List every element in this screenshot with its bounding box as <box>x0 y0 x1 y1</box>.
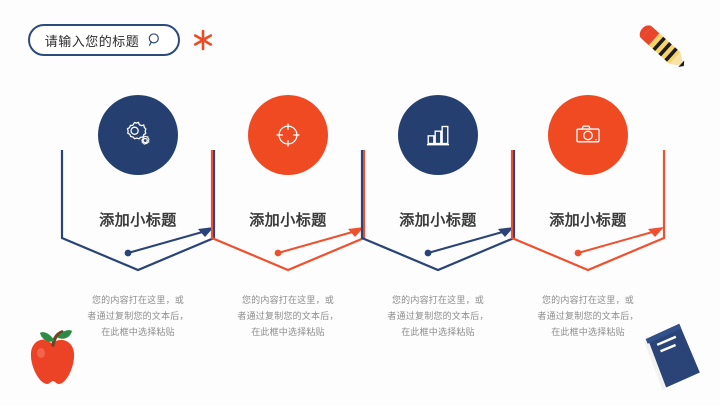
card-3-body: 您的内容打在这里，或 者通过复制您的文本后， 在此框中选择粘贴 <box>353 292 523 340</box>
body-text-row: 您的内容打在这里，或 者通过复制您的文本后， 在此框中选择粘贴 您的内容打在这里… <box>0 292 720 352</box>
card-1-circle[interactable] <box>98 95 178 175</box>
camera-icon <box>571 118 605 152</box>
card-1-title: 添加小标题 <box>59 209 217 230</box>
banner-arrow <box>575 227 664 256</box>
card-4-body: 您的内容打在这里，或 者通过复制您的文本后， 在此框中选择粘贴 <box>503 292 673 340</box>
title-placeholder-text: 请输入您的标题 <box>45 31 140 50</box>
pencil-icon <box>634 20 698 80</box>
card-3-circle[interactable] <box>398 95 478 175</box>
bar-chart-icon <box>421 118 455 152</box>
body-line: 您的内容打在这里，或 <box>353 292 523 308</box>
body-line: 者通过复制您的文本后， <box>353 308 523 324</box>
card-2-title: 添加小标题 <box>209 209 367 230</box>
title-input-pill[interactable]: 请输入您的标题 <box>28 24 180 56</box>
card-4[interactable]: 添加小标题 <box>498 95 678 275</box>
asterisk-icon <box>191 28 215 52</box>
card-4-title: 添加小标题 <box>509 209 667 230</box>
gears-icon <box>121 118 155 152</box>
cards-row: 添加小标题 <box>0 95 720 275</box>
body-line: 在此框中选择粘贴 <box>503 324 673 340</box>
body-line: 您的内容打在这里，或 <box>53 292 223 308</box>
card-4-circle[interactable] <box>548 95 628 175</box>
target-icon <box>271 118 305 152</box>
card-1-body: 您的内容打在这里，或 者通过复制您的文本后， 在此框中选择粘贴 <box>53 292 223 340</box>
search-icon[interactable] <box>147 32 163 48</box>
body-line: 在此框中选择粘贴 <box>53 324 223 340</box>
slide-canvas: 请输入您的标题 <box>0 0 720 405</box>
body-line: 在此框中选择粘贴 <box>203 324 373 340</box>
card-2-body: 您的内容打在这里，或 者通过复制您的文本后， 在此框中选择粘贴 <box>203 292 373 340</box>
card-3-title: 添加小标题 <box>359 209 517 230</box>
body-line: 您的内容打在这里，或 <box>203 292 373 308</box>
card-2-circle[interactable] <box>248 95 328 175</box>
body-line: 者通过复制您的文本后， <box>503 308 673 324</box>
body-line: 您的内容打在这里，或 <box>503 292 673 308</box>
body-line: 在此框中选择粘贴 <box>353 324 523 340</box>
body-line: 者通过复制您的文本后， <box>53 308 223 324</box>
body-line: 者通过复制您的文本后， <box>203 308 373 324</box>
